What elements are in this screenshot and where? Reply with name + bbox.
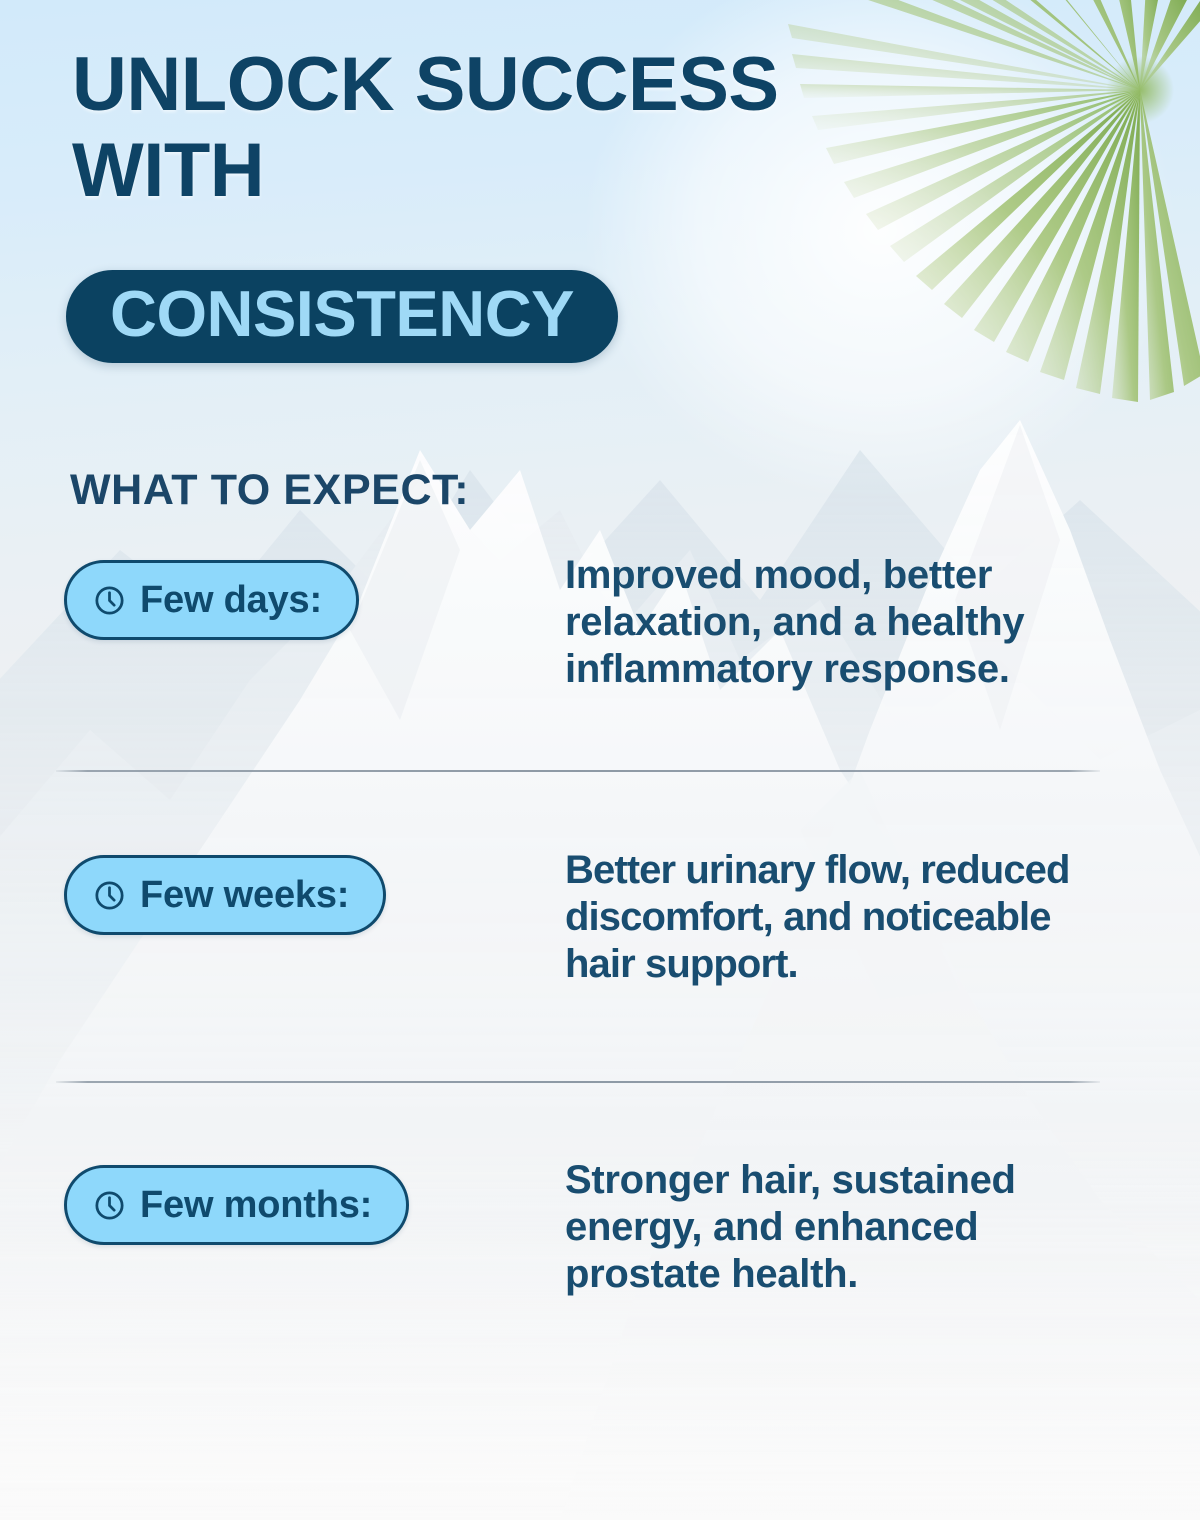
headline-line-1: UNLOCK SUCCESS — [72, 42, 779, 127]
timeline-pill-few-weeks: Few weeks: — [64, 855, 386, 935]
timeline-pill-label: Few months: — [140, 1186, 372, 1224]
timeline-description: Improved mood, better relaxation, and a … — [565, 552, 1110, 694]
section-divider — [56, 770, 1100, 772]
timeline-description: Better urinary flow, reduced discomfort,… — [565, 847, 1110, 989]
timeline-pill-few-days: Few days: — [64, 560, 359, 640]
clock-icon — [93, 879, 126, 912]
clock-icon — [93, 584, 126, 617]
page-title: UNLOCK SUCCESS WITH — [72, 48, 942, 209]
timeline-description: Stronger hair, sustained energy, and enh… — [565, 1157, 1110, 1299]
section-divider — [56, 1081, 1100, 1083]
timeline-pill-few-months: Few months: — [64, 1165, 409, 1245]
clock-icon — [93, 1189, 126, 1222]
timeline-pill-label: Few days: — [140, 581, 322, 619]
consistency-badge-label: CONSISTENCY — [110, 281, 574, 346]
headline-line-2: WITH — [72, 134, 942, 208]
timeline-pill-label: Few weeks: — [140, 876, 349, 914]
section-heading: WHAT TO EXPECT: — [70, 466, 469, 515]
consistency-badge: CONSISTENCY — [66, 270, 618, 363]
